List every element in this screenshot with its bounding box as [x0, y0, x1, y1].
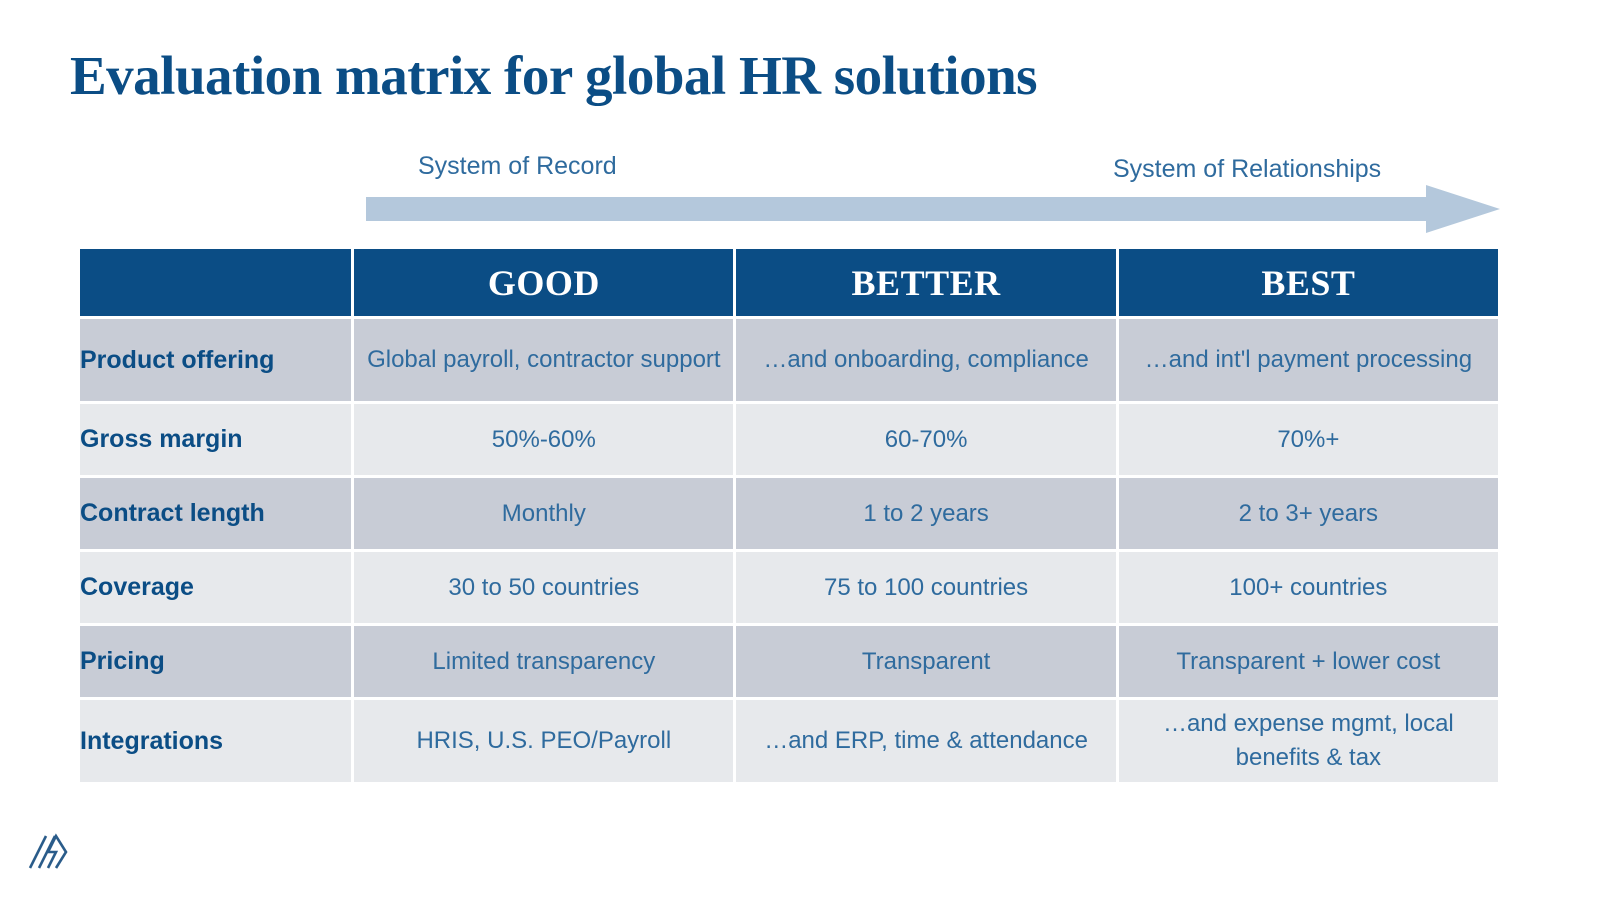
table-row: Pricing Limited transparency Transparent…	[80, 626, 1498, 697]
column-header-blank	[80, 249, 351, 316]
table-row: Contract length Monthly 1 to 2 years 2 t…	[80, 478, 1498, 549]
row-label-integrations: Integrations	[80, 700, 351, 782]
row-label-pricing: Pricing	[80, 626, 351, 697]
table-header-row: GOOD BETTER BEST	[80, 249, 1498, 316]
row-label-gross-margin: Gross margin	[80, 404, 351, 475]
cell-pricing-good: Limited transparency	[354, 626, 733, 697]
cell-product-offering-good: Global payroll, contractor support	[354, 319, 733, 401]
cell-gross-margin-best: 70%+	[1119, 404, 1498, 475]
row-label-contract-length: Contract length	[80, 478, 351, 549]
right-arrow-icon	[366, 185, 1500, 233]
cell-integrations-better: …and ERP, time & attendance	[736, 700, 1115, 782]
cell-contract-length-better: 1 to 2 years	[736, 478, 1115, 549]
table-row: Coverage 30 to 50 countries 75 to 100 co…	[80, 552, 1498, 623]
column-header-good: GOOD	[354, 249, 733, 316]
table-row: Gross margin 50%-60% 60-70% 70%+	[80, 404, 1498, 475]
cell-coverage-better: 75 to 100 countries	[736, 552, 1115, 623]
page-title: Evaluation matrix for global HR solution…	[70, 44, 1037, 108]
cell-integrations-best: …and expense mgmt, local benefits & tax	[1119, 700, 1498, 782]
cell-integrations-good: HRIS, U.S. PEO/Payroll	[354, 700, 733, 782]
cell-pricing-better: Transparent	[736, 626, 1115, 697]
cell-gross-margin-better: 60-70%	[736, 404, 1115, 475]
cell-product-offering-better: …and onboarding, compliance	[736, 319, 1115, 401]
table-row: Integrations HRIS, U.S. PEO/Payroll …and…	[80, 700, 1498, 782]
column-header-better: BETTER	[736, 249, 1115, 316]
brand-mark-icon	[26, 826, 72, 874]
table-body: Product offering Global payroll, contrac…	[80, 319, 1498, 782]
row-label-product-offering: Product offering	[80, 319, 351, 401]
spectrum-band: System of Record System of Relationships	[0, 140, 1600, 240]
spectrum-label-right: System of Relationships	[1113, 155, 1381, 184]
evaluation-matrix-table: GOOD BETTER BEST Product offering Global…	[77, 246, 1501, 785]
cell-product-offering-best: …and int'l payment processing	[1119, 319, 1498, 401]
table-header: GOOD BETTER BEST	[80, 249, 1498, 316]
cell-contract-length-best: 2 to 3+ years	[1119, 478, 1498, 549]
cell-pricing-best: Transparent + lower cost	[1119, 626, 1498, 697]
table-row: Product offering Global payroll, contrac…	[80, 319, 1498, 401]
cell-gross-margin-good: 50%-60%	[354, 404, 733, 475]
cell-coverage-good: 30 to 50 countries	[354, 552, 733, 623]
cell-coverage-best: 100+ countries	[1119, 552, 1498, 623]
row-label-coverage: Coverage	[80, 552, 351, 623]
column-header-best: BEST	[1119, 249, 1498, 316]
spectrum-label-left: System of Record	[418, 152, 617, 181]
cell-contract-length-good: Monthly	[354, 478, 733, 549]
